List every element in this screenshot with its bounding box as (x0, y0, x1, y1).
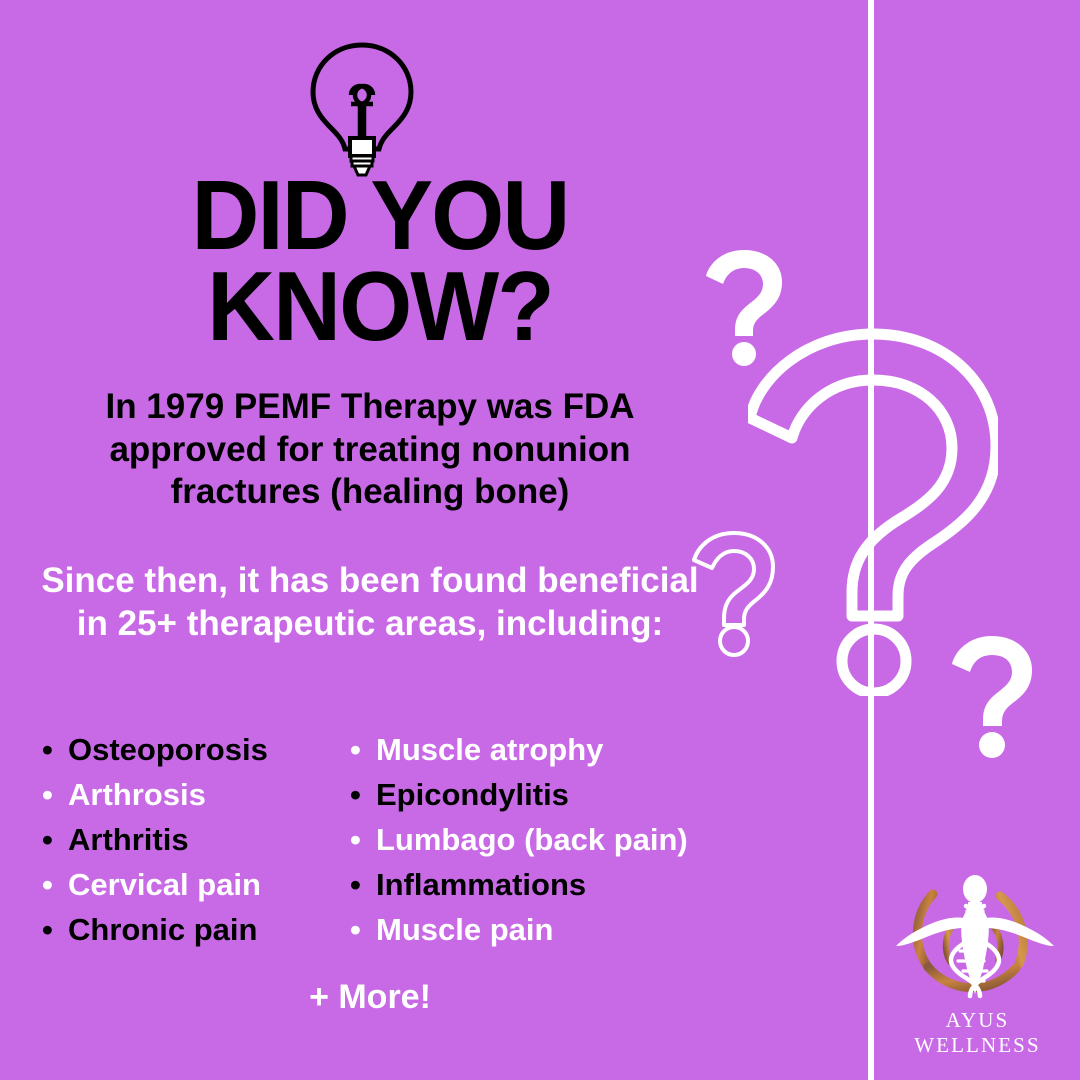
bullet-icon (350, 824, 376, 855)
poster-canvas: DID YOU KNOW? In 1979 PEMF Therapy was F… (0, 0, 1080, 1080)
list-column-left: Osteoporosis Arthrosis Arthritis Cervica… (0, 733, 340, 958)
question-mark-outline-small (692, 528, 776, 658)
list-item: Arthritis (42, 823, 340, 868)
bullet-icon (350, 914, 376, 945)
bullet-icon (350, 869, 376, 900)
bullet-icon (42, 734, 68, 765)
list-item: Osteoporosis (42, 733, 340, 778)
list-item-label: Osteoporosis (68, 733, 268, 767)
list-item: Muscle pain (350, 913, 770, 958)
list-item-label: Arthritis (68, 823, 189, 857)
bullet-icon (42, 869, 68, 900)
list-item: Muscle atrophy (350, 733, 770, 778)
fact-paragraph: In 1979 PEMF Therapy was FDA approved fo… (40, 386, 700, 514)
list-item-label: Inflammations (376, 868, 586, 902)
list-item: Chronic pain (42, 913, 340, 958)
list-item: Lumbago (back pain) (350, 823, 770, 868)
list-item-label: Muscle pain (376, 913, 553, 947)
human-dna-logo-icon (888, 872, 1063, 1000)
brand-logo: AYUS WELLNESS (880, 872, 1075, 1057)
question-mark-solid-bottom (952, 634, 1032, 758)
list-item: Epicondylitis (350, 778, 770, 823)
list-column-right: Muscle atrophy Epicondylitis Lumbago (ba… (340, 733, 770, 958)
list-item-label: Arthrosis (68, 778, 206, 812)
list-item: Inflammations (350, 868, 770, 913)
bullet-icon (350, 779, 376, 810)
list-item-label: Cervical pain (68, 868, 261, 902)
list-item: Arthrosis (42, 778, 340, 823)
bullet-icon (42, 779, 68, 810)
list-item: Cervical pain (42, 868, 340, 913)
brand-name-label: AYUS WELLNESS (880, 1008, 1075, 1058)
bullet-icon (42, 824, 68, 855)
list-item-label: Lumbago (back pain) (376, 823, 688, 857)
bullet-icon (350, 734, 376, 765)
list-item-label: Chronic pain (68, 913, 257, 947)
lightbulb-icon (307, 42, 417, 177)
intro-paragraph: Since then, it has been found beneficial… (40, 560, 700, 645)
therapeutic-areas-lists: Osteoporosis Arthrosis Arthritis Cervica… (0, 733, 800, 958)
list-item-label: Epicondylitis (376, 778, 569, 812)
bullet-icon (42, 914, 68, 945)
list-item-label: Muscle atrophy (376, 733, 603, 767)
page-title: DID YOU KNOW? (44, 170, 716, 352)
question-mark-solid-top (706, 248, 782, 366)
page-title-line-1: DID YOU (44, 170, 716, 261)
more-label: + More! (40, 978, 700, 1017)
page-title-line-2: KNOW? (44, 261, 716, 352)
